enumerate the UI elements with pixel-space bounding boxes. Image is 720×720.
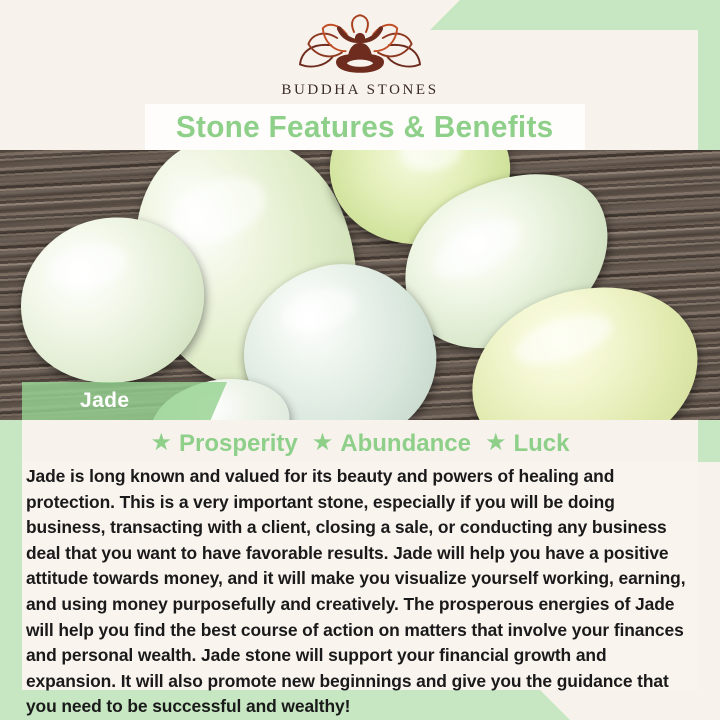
page-title: Stone Features & Benefits xyxy=(176,109,554,145)
brand-header: BUDDHA STONES xyxy=(0,14,720,106)
benefits-row: ★ Prosperity ★ Abundance ★ Luck xyxy=(22,424,698,464)
benefit-item: ★ Abundance xyxy=(312,430,471,458)
brand-name: BUDDHA STONES xyxy=(281,82,438,99)
stone-name-chip: Jade xyxy=(22,382,227,420)
benefit-label: Luck xyxy=(513,430,569,458)
benefit-item: ★ Prosperity xyxy=(151,430,298,458)
benefit-label: Abundance xyxy=(340,430,471,458)
benefit-label: Prosperity xyxy=(179,430,298,458)
description-text: Jade is long known and valued for its be… xyxy=(22,462,691,720)
lotus-meditation-icon xyxy=(294,14,426,80)
stone-name: Jade xyxy=(80,389,129,413)
description-panel: Jade is long known and valued for its be… xyxy=(22,462,698,690)
benefit-item: ★ Luck xyxy=(485,430,570,458)
star-icon: ★ xyxy=(312,431,334,455)
stone-photo xyxy=(0,150,720,420)
star-icon: ★ xyxy=(151,431,173,455)
star-icon: ★ xyxy=(485,431,507,455)
section-title-banner: Stone Features & Benefits xyxy=(145,104,585,150)
stone-info-poster: BUDDHA STONES Stone Features & Benefits xyxy=(0,0,720,720)
